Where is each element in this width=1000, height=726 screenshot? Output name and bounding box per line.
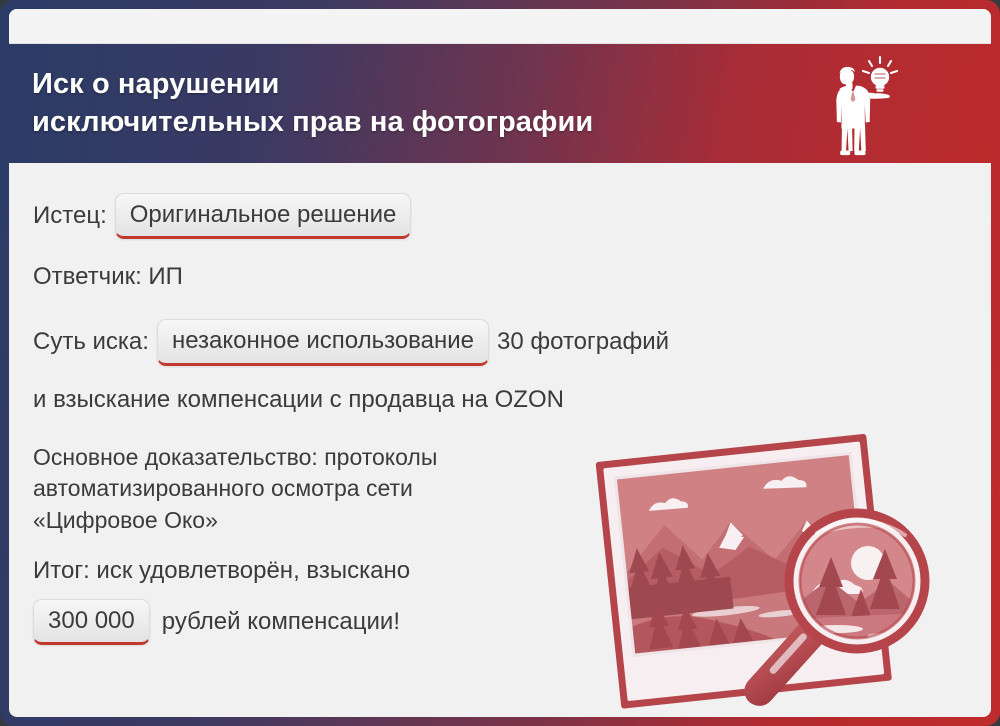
- spacer: [33, 537, 991, 555]
- slide-header: Иск о нарушении исключительных прав на ф…: [9, 44, 991, 163]
- claim-row: Суть иска: незаконное использование 30 ф…: [33, 319, 991, 365]
- result-text: Итог: иск удовлетворён, взыскано: [33, 555, 410, 587]
- top-white-strip: [9, 9, 991, 44]
- businessman-with-lightbulb-icon: [814, 52, 906, 160]
- result-row: Итог: иск удовлетворён, взыскано: [33, 555, 991, 587]
- claim-chip[interactable]: незаконное использование: [157, 319, 489, 365]
- defendant-row: Ответчик: ИП: [33, 261, 991, 293]
- slide-frame: Иск о нарушении исключительных прав на ф…: [0, 0, 1000, 726]
- slide-card: Иск о нарушении исключительных прав на ф…: [9, 9, 991, 717]
- plaintiff-label: Истец:: [33, 200, 107, 232]
- spacer: [33, 416, 991, 442]
- page-title: Иск о нарушении исключительных прав на ф…: [32, 66, 593, 140]
- plaintiff-row: Истец: Оригинальное решение: [33, 193, 991, 239]
- evidence-paragraph: Основное доказательство: протоколы автом…: [33, 442, 633, 537]
- claim-line2-text: и взыскание компенсации с продавца на OZ…: [33, 384, 564, 416]
- amount-after-chip-text: рублей компенсации!: [162, 606, 400, 638]
- evidence-line-3: «Цифровое Око»: [33, 505, 633, 537]
- evidence-line-1: Основное доказательство: протоколы: [33, 442, 633, 474]
- title-line-2: исключительных прав на фотографии: [32, 104, 593, 141]
- claim-after-chip-text: 30 фотографий: [497, 326, 669, 358]
- evidence-line-2: автоматизированного осмотра сети: [33, 473, 633, 505]
- plaintiff-chip[interactable]: Оригинальное решение: [115, 193, 412, 239]
- spacer: [33, 366, 991, 384]
- claim-label: Суть иска:: [33, 326, 149, 358]
- defendant-text: Ответчик: ИП: [33, 261, 183, 293]
- slide-body: Истец: Оригинальное решение Ответчик: ИП…: [9, 163, 991, 717]
- spacer: [33, 239, 991, 261]
- claim-second-line: и взыскание компенсации с продавца на OZ…: [33, 384, 991, 416]
- amount-row: 300 000 рублей компенсации!: [33, 599, 991, 645]
- title-line-1: Иск о нарушении: [32, 66, 593, 103]
- spacer: [33, 587, 991, 599]
- spacer: [33, 293, 991, 319]
- amount-chip[interactable]: 300 000: [33, 599, 150, 645]
